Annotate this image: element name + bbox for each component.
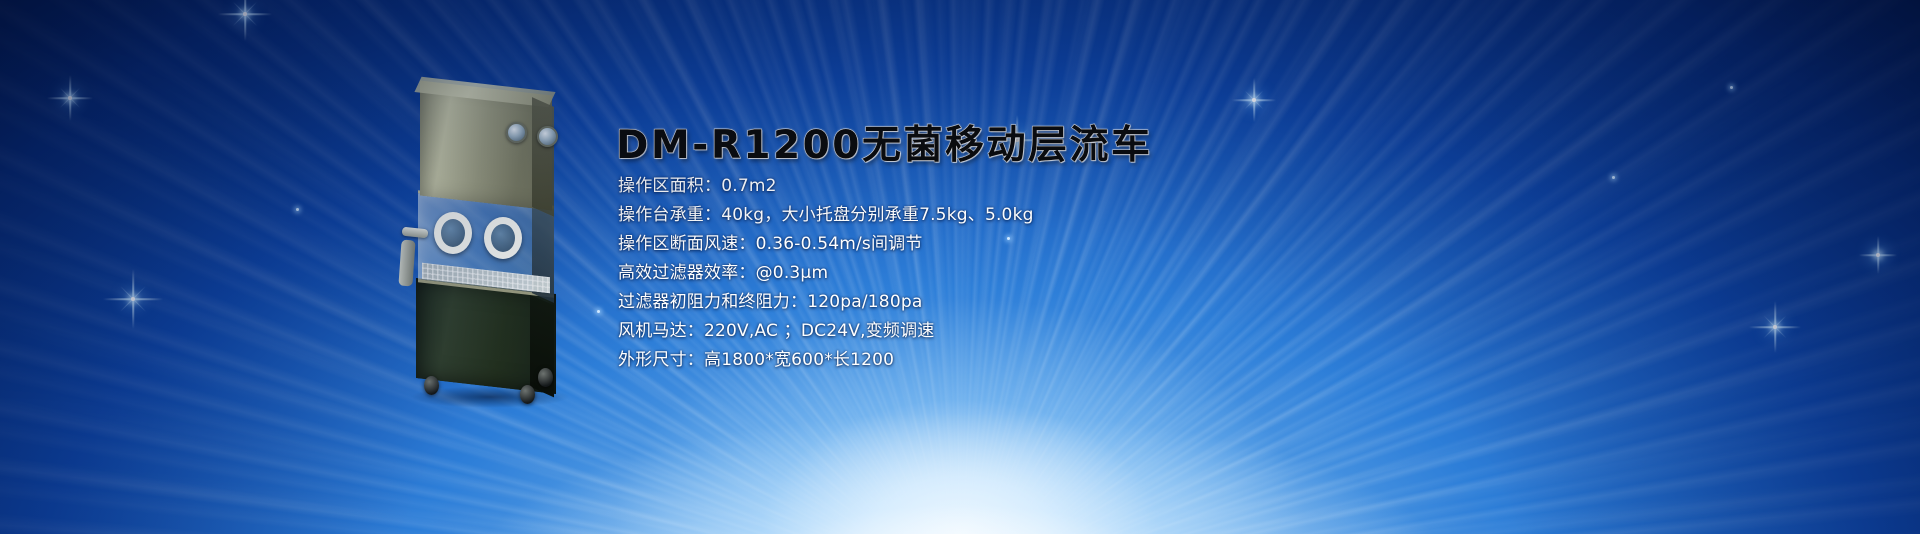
sparkle-dot-icon — [1730, 86, 1733, 89]
product-image — [392, 80, 582, 400]
glove-port-left-icon — [434, 212, 472, 254]
perforated-worktop — [422, 263, 550, 294]
pressure-gauge-icon — [537, 126, 558, 147]
product-banner: DM-R1200无菌移动层流车 操作区面积：0.7m2 操作台承重：40kg，大… — [0, 0, 1920, 534]
glove-port-right-icon — [484, 217, 522, 259]
spec-item: 操作区断面风速：0.36-0.54m/s间调节 — [618, 230, 1358, 259]
cart-cabinet-top — [414, 77, 555, 107]
caster-wheel-icon — [424, 376, 439, 395]
caster-wheel-icon — [520, 385, 535, 404]
spec-item: 过滤器初阻力和终阻力：120pa/180pa — [618, 288, 1358, 317]
cart-work-chamber — [418, 190, 554, 297]
caster-wheel-icon — [538, 368, 553, 387]
cart-side-rail — [398, 240, 415, 287]
spec-item: 操作台承重：40kg，大小托盘分别承重7.5kg、5.0kg — [618, 201, 1358, 230]
cart-chamber-side — [532, 207, 554, 303]
cart-base-side — [530, 295, 554, 398]
spec-item: 风机马达：220V,AC ；DC24V,变频调速 — [618, 317, 1358, 346]
spec-item: 外形尺寸：高1800*宽600*长1200 — [618, 346, 1358, 375]
cart-upper-cabinet — [420, 80, 552, 210]
cart-cabinet-side — [532, 97, 554, 217]
spec-item: 操作区面积：0.7m2 — [618, 172, 1358, 201]
sparkle-dot-icon — [296, 208, 299, 211]
cart-handle — [402, 227, 429, 239]
sparkle-dot-icon — [597, 310, 600, 313]
product-spec-list: 操作区面积：0.7m2 操作台承重：40kg，大小托盘分别承重7.5kg、5.0… — [618, 172, 1358, 375]
spec-item: 高效过滤器效率：@0.3μm — [618, 259, 1358, 288]
product-title: DM-R1200无菌移动层流车 — [616, 114, 1152, 170]
cart-base — [416, 278, 556, 394]
product-shadow — [410, 386, 570, 408]
sparkle-dot-icon — [1612, 176, 1615, 179]
pressure-gauge-icon — [506, 122, 527, 143]
